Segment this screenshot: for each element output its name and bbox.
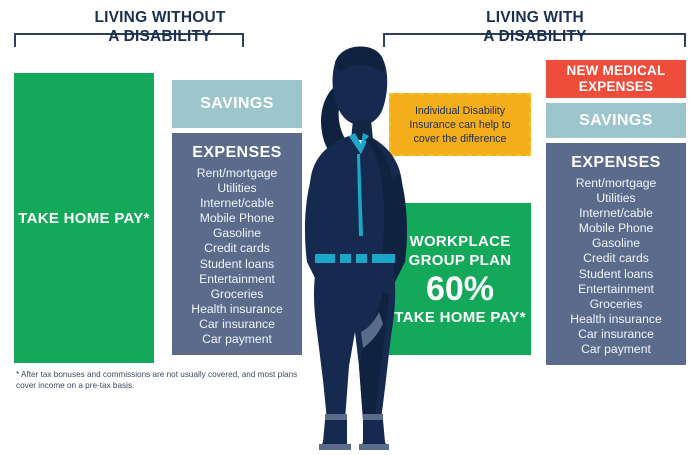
list-item: Car insurance (546, 327, 686, 342)
left-expenses-title: EXPENSES (172, 142, 302, 163)
right-expenses-list: Rent/mortgage Utilities Internet/cable M… (546, 176, 686, 357)
right-savings-label: SAVINGS (579, 111, 653, 131)
list-item: Car payment (172, 332, 302, 347)
right-heading-line1: LIVING WITH (450, 8, 620, 27)
list-item: Internet/cable (172, 196, 302, 211)
new-medical-expenses-box: NEW MEDICAL EXPENSES (546, 60, 686, 98)
list-item: Groceries (172, 287, 302, 302)
list-item: Utilities (546, 191, 686, 206)
left-bracket-tick-left (14, 33, 16, 47)
left-savings-label: SAVINGS (200, 94, 274, 114)
figure-belt-notch-1 (335, 254, 340, 263)
workplace-plan-percent: 60% (426, 270, 494, 308)
left-heading: LIVING WITHOUT A DISABILITY (75, 8, 245, 46)
list-item: Student loans (546, 267, 686, 282)
list-item: Car insurance (172, 317, 302, 332)
right-expenses-box: EXPENSES Rent/mortgage Utilities Interne… (546, 143, 686, 365)
right-heading-line2: A DISABILITY (450, 27, 620, 46)
footnote: * After tax bonuses and commissions are … (16, 369, 316, 391)
list-item: Mobile Phone (546, 221, 686, 236)
list-item: Mobile Phone (172, 211, 302, 226)
list-item: Health insurance (546, 312, 686, 327)
list-item: Internet/cable (546, 206, 686, 221)
right-savings-box: SAVINGS (546, 103, 686, 138)
list-item: Student loans (172, 257, 302, 272)
list-item: Credit cards (172, 241, 302, 256)
left-savings-box: SAVINGS (172, 80, 302, 128)
figure-right-cuff (363, 414, 383, 421)
list-item: Credit cards (546, 251, 686, 266)
left-heading-line1: LIVING WITHOUT (75, 8, 245, 27)
list-item: Rent/mortgage (172, 166, 302, 181)
figure-belt-notch-2 (351, 254, 356, 263)
right-expenses-title: EXPENSES (546, 152, 686, 173)
left-heading-line2: A DISABILITY (75, 27, 245, 46)
list-item: Car payment (546, 342, 686, 357)
left-take-home-pay-box: TAKE HOME PAY* (14, 73, 154, 363)
list-item: Groceries (546, 297, 686, 312)
list-item: Gasoline (172, 226, 302, 241)
infographic-canvas: LIVING WITHOUT A DISABILITY TAKE HOME PA… (0, 0, 700, 455)
figure-right-sole (359, 444, 389, 450)
left-expenses-box: EXPENSES Rent/mortgage Utilities Interne… (172, 133, 302, 355)
left-expenses-list: Rent/mortgage Utilities Internet/cable M… (172, 166, 302, 347)
right-heading: LIVING WITH A DISABILITY (450, 8, 620, 46)
new-medical-expenses-label: NEW MEDICAL EXPENSES (546, 63, 686, 95)
list-item: Entertainment (546, 282, 686, 297)
list-item: Gasoline (546, 236, 686, 251)
figure-left-cuff (325, 414, 347, 421)
right-bracket-tick-right (684, 33, 686, 47)
woman-silhouette-illustration (289, 36, 421, 455)
list-item: Utilities (172, 181, 302, 196)
figure-belt-notch-3 (367, 254, 372, 263)
figure-left-sole (319, 444, 351, 450)
left-take-home-pay-label: TAKE HOME PAY* (18, 209, 149, 228)
list-item: Health insurance (172, 302, 302, 317)
list-item: Entertainment (172, 272, 302, 287)
list-item: Rent/mortgage (546, 176, 686, 191)
